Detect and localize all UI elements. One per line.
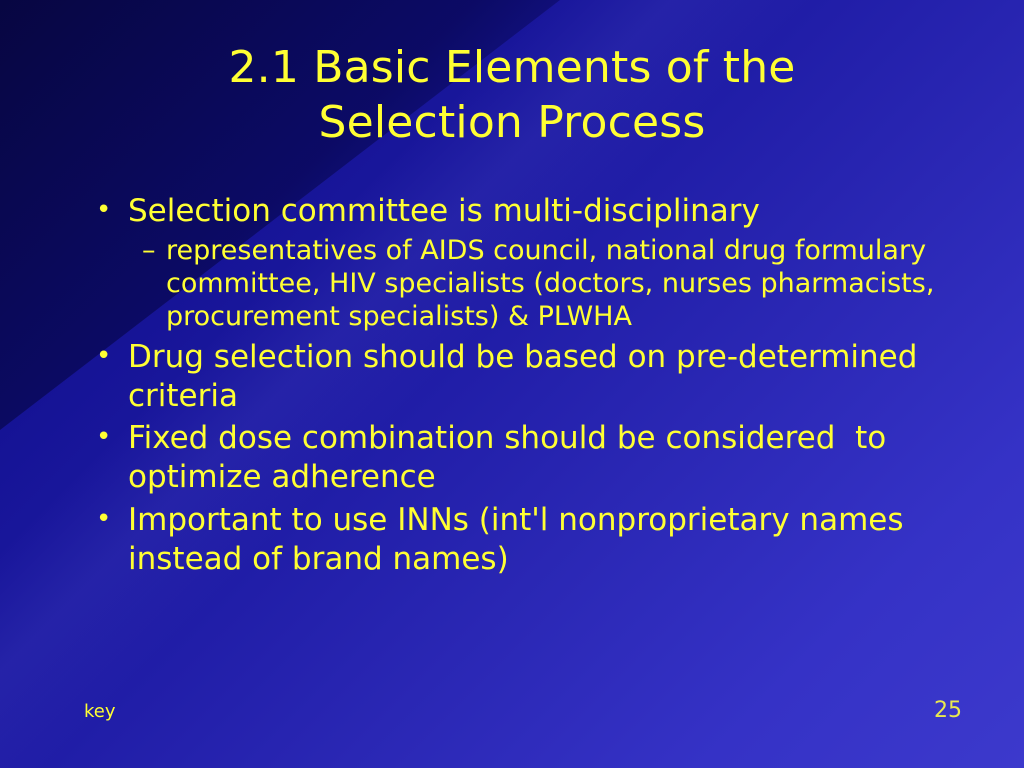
bullet-marker-dot-icon: • — [96, 419, 128, 457]
slide-body-bullet-list: • Selection committee is multi-disciplin… — [96, 188, 976, 580]
slide-content: 2.1 Basic Elements of the Selection Proc… — [0, 0, 1024, 768]
bullet-item-level1: • Important to use INNs (int'l nonpropri… — [96, 501, 976, 579]
slide-page-number: 25 — [934, 700, 962, 722]
slide-title: 2.1 Basic Elements of the Selection Proc… — [60, 40, 964, 151]
bullet-item-level1: • Drug selection should be based on pre-… — [96, 338, 976, 416]
bullet-marker-dot-icon: • — [96, 338, 128, 376]
bullet-text: Selection committee is multi-disciplinar… — [128, 192, 976, 231]
bullet-text: Important to use INNs (int'l nonpropriet… — [128, 501, 976, 579]
bullet-item-level2: – representatives of AIDS council, natio… — [96, 234, 976, 334]
presentation-slide: 2.1 Basic Elements of the Selection Proc… — [0, 0, 1024, 768]
bullet-text: representatives of AIDS council, nationa… — [166, 234, 976, 334]
bullet-marker-dot-icon: • — [96, 501, 128, 539]
bullet-text: Drug selection should be based on pre-de… — [128, 338, 976, 416]
bullet-item-level1: • Fixed dose combination should be consi… — [96, 419, 976, 497]
bullet-item-level1: • Selection committee is multi-disciplin… — [96, 192, 976, 231]
bullet-text: Fixed dose combination should be conside… — [128, 419, 976, 497]
bullet-marker-dot-icon: • — [96, 192, 128, 230]
bullet-marker-dash-icon: – — [142, 234, 166, 268]
footer-key-label: key — [84, 703, 116, 721]
